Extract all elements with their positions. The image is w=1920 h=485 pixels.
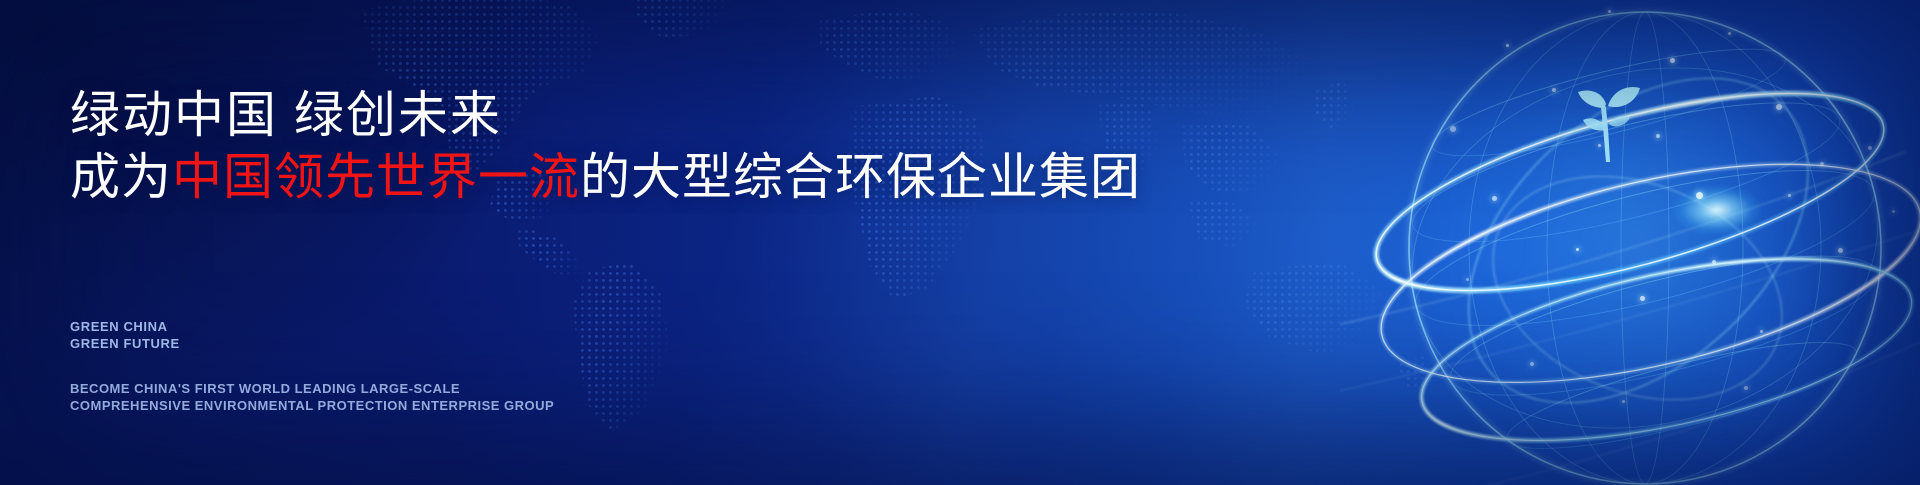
subtitle-line-1: BECOME CHINA'S FIRST WORLD LEADING LARGE… [70,380,554,397]
banner-content: 绿动中国 绿创未来 成为中国领先世界一流的大型综合环保企业集团 GREEN CH… [70,0,1250,485]
headline-line-2: 成为中国领先世界一流的大型综合环保企业集团 [70,146,1220,208]
subtitle-line-2: COMPREHENSIVE ENVIRONMENTAL PROTECTION E… [70,397,554,414]
tagline-block: GREEN CHINA GREEN FUTURE [70,318,180,352]
subtitle-block: BECOME CHINA'S FIRST WORLD LEADING LARGE… [70,380,554,414]
headline-line2-suffix: 的大型综合环保企业集团 [580,149,1141,205]
tagline-line-2: GREEN FUTURE [70,335,180,352]
headline-block: 绿动中国 绿创未来 成为中国领先世界一流的大型综合环保企业集团 [70,84,1220,208]
tagline-line-1: GREEN CHINA [70,318,180,335]
hero-banner: 绿动中国 绿创未来 成为中国领先世界一流的大型综合环保企业集团 GREEN CH… [0,0,1920,485]
headline-line2-highlight: 中国领先世界一流 [172,149,580,205]
headline-line-1: 绿动中国 绿创未来 [70,84,1220,146]
headline-line2-prefix: 成为 [70,149,172,205]
